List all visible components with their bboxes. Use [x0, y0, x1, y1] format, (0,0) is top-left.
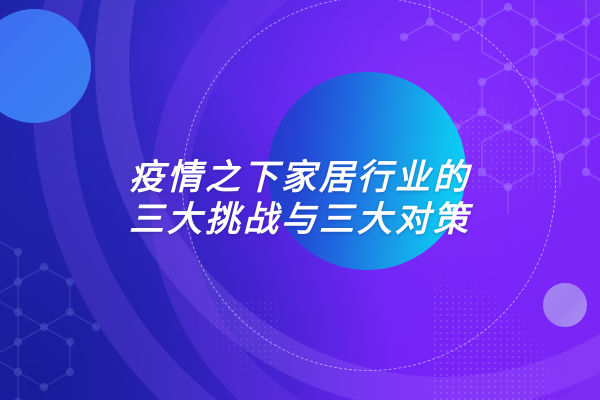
poster-canvas: 疫情之下家居行业的 三大挑战与三大对策 — [0, 0, 600, 400]
hexagon-lattice-bottom-left-icon — [0, 212, 156, 400]
circle-bottom-right-decoration — [543, 283, 587, 327]
circle-main-gradient-decoration — [268, 72, 466, 270]
